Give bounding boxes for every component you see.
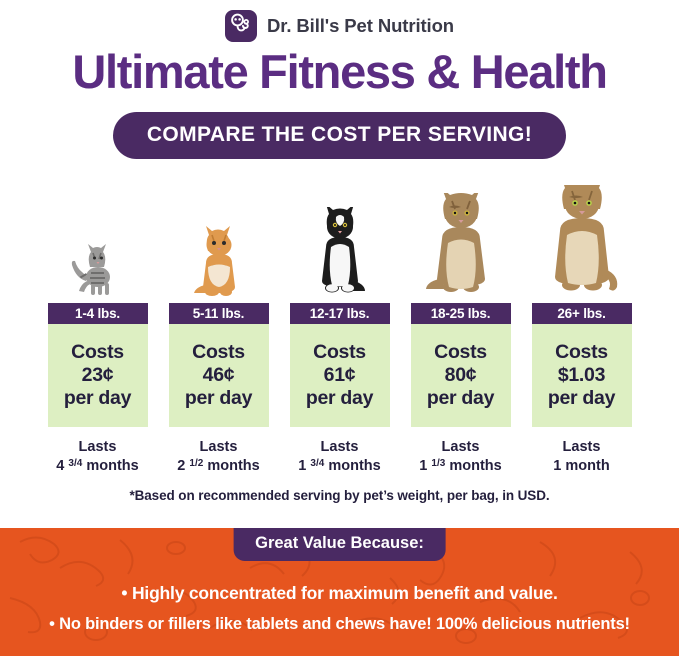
- cost-box: Costs 61¢ per day: [290, 324, 390, 427]
- lasts-label: Lasts: [553, 438, 609, 457]
- cost-amount: $1.03: [558, 364, 605, 387]
- cost-amount: 80¢: [445, 364, 477, 387]
- weight-label: 1-4 lbs.: [48, 303, 148, 324]
- stethoscope-pet-logo-icon: [225, 10, 257, 42]
- lasts-info: Lasts 1 3/4 months: [298, 438, 380, 476]
- weight-label: 18-25 lbs.: [411, 303, 511, 324]
- cost-period: per day: [427, 387, 494, 410]
- lasts-info: Lasts 1 month: [553, 438, 609, 476]
- cost-label: Costs: [71, 341, 124, 364]
- cost-box: Costs 23¢ per day: [48, 324, 148, 427]
- lasts-label: Lasts: [298, 438, 380, 457]
- footnote: *Based on recommended serving by pet’s w…: [0, 488, 679, 503]
- cost-column: 18-25 lbs. Costs 80¢ per day Lasts 1 1/3…: [411, 187, 511, 476]
- cost-column: 12-17 lbs. Costs 61¢ per day Lasts 1 3/4…: [290, 187, 390, 476]
- cost-comparison-row: 1-4 lbs. Costs 23¢ per day Lasts 4 3/4 m…: [0, 186, 679, 476]
- cost-column: 1-4 lbs. Costs 23¢ per day Lasts 4 3/4 m…: [48, 187, 148, 476]
- lasts-info: Lasts 4 3/4 months: [56, 438, 138, 476]
- page-title: Ultimate Fitness & Health: [0, 47, 679, 96]
- weight-label: 5-11 lbs.: [169, 303, 269, 324]
- lasts-info: Lasts 1 1/3 months: [419, 438, 501, 476]
- cost-label: Costs: [313, 341, 366, 364]
- lasts-label: Lasts: [177, 438, 259, 457]
- lasts-label: Lasts: [56, 438, 138, 457]
- cost-label: Costs: [555, 341, 608, 364]
- compare-banner-wrap: COMPARE THE COST PER SERVING!: [0, 112, 679, 159]
- orange-tabby-cat-sitting-icon: [169, 187, 269, 303]
- grey-tabby-kitten-standing-icon: [48, 187, 148, 303]
- lasts-duration: 2 1/2 months: [177, 457, 259, 476]
- value-section: Great Value Because: • Highly concentrat…: [0, 528, 679, 656]
- cost-column: 26+ lbs. Costs $1.03 per day Lasts 1 mon…: [532, 187, 632, 476]
- lasts-duration: 1 3/4 months: [298, 457, 380, 476]
- lasts-info: Lasts 2 1/2 months: [177, 438, 259, 476]
- lasts-duration: 1 month: [553, 457, 609, 476]
- cost-label: Costs: [192, 341, 245, 364]
- cost-box: Costs $1.03 per day: [532, 324, 632, 427]
- tuxedo-cat-sitting-icon: [290, 187, 390, 303]
- brown-tabby-cat-fluffy-icon: [411, 187, 511, 303]
- brand-name: Dr. Bill's Pet Nutrition: [267, 15, 454, 37]
- large-brown-tabby-cat-icon: [532, 187, 632, 303]
- cost-amount: 61¢: [324, 364, 356, 387]
- compare-banner: COMPARE THE COST PER SERVING!: [113, 112, 566, 159]
- cost-box: Costs 80¢ per day: [411, 324, 511, 427]
- cost-amount: 23¢: [82, 364, 114, 387]
- cost-period: per day: [185, 387, 252, 410]
- lasts-duration: 4 3/4 months: [56, 457, 138, 476]
- cost-column: 5-11 lbs. Costs 46¢ per day Lasts 2 1/2 …: [169, 187, 269, 476]
- value-badge: Great Value Because:: [233, 528, 446, 561]
- cost-box: Costs 46¢ per day: [169, 324, 269, 427]
- cost-amount: 46¢: [203, 364, 235, 387]
- weight-label: 26+ lbs.: [532, 303, 632, 324]
- cost-label: Costs: [434, 341, 487, 364]
- infographic-page: Dr. Bill's Pet Nutrition Ultimate Fitnes…: [0, 0, 679, 656]
- brand-header: Dr. Bill's Pet Nutrition: [0, 0, 679, 44]
- weight-label: 12-17 lbs.: [290, 303, 390, 324]
- value-bullets: • Highly concentrated for maximum benefi…: [0, 583, 679, 634]
- lasts-label: Lasts: [419, 438, 501, 457]
- cost-period: per day: [548, 387, 615, 410]
- value-bullet: • Highly concentrated for maximum benefi…: [0, 583, 679, 604]
- lasts-duration: 1 1/3 months: [419, 457, 501, 476]
- cost-period: per day: [64, 387, 131, 410]
- value-bullet: • No binders or fillers like tablets and…: [0, 615, 679, 634]
- cost-period: per day: [306, 387, 373, 410]
